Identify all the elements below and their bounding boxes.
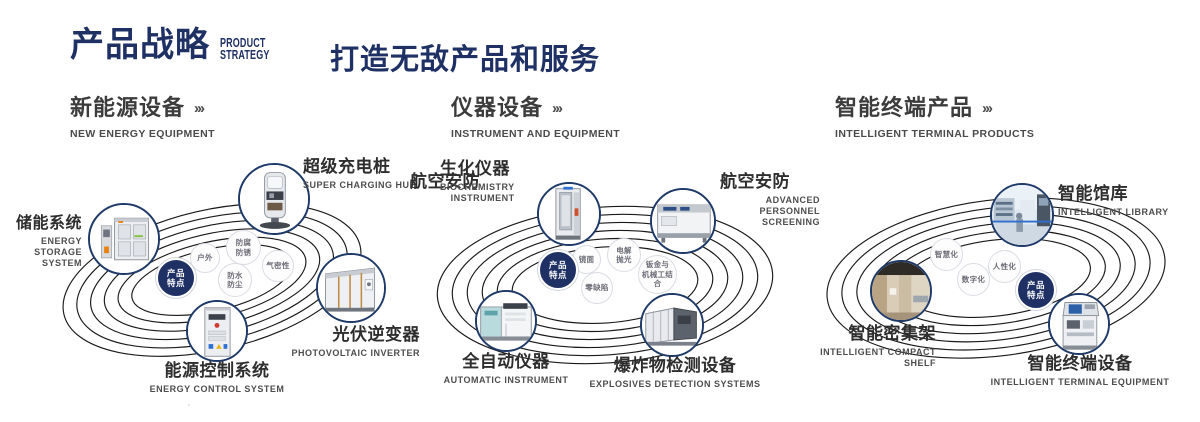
core-badge-product-features: 产品 特点 xyxy=(538,250,578,290)
node-explosives-detection[interactable] xyxy=(640,293,704,357)
node-energy-control-cabinet[interactable] xyxy=(186,300,248,362)
photovoltaic-inverter-icon xyxy=(318,255,384,321)
personnel-screening-icon xyxy=(652,190,714,252)
chevron-right-icon: ››› xyxy=(194,101,203,116)
node-label-cn: 智能终端设备 xyxy=(985,355,1175,374)
cluster-new-energy-equipment: 储能系统 ENERGY STORAGE SYSTEM 超级充电桩 SUPER C… xyxy=(0,150,420,400)
node-energy-storage-cabinet[interactable] xyxy=(88,203,160,275)
feature-bubble-sheetmetal-machining: 钣金与 机械工结合 xyxy=(638,255,677,294)
node-label-cn: 智能馆库 xyxy=(1058,185,1169,204)
section-label: 新能源设备 xyxy=(70,97,185,119)
node-label-energy-control: 能源控制系统 ENERGY CONTROL SYSTEM xyxy=(117,362,317,395)
node-label-en: AUTOMATIC INSTRUMENT xyxy=(416,375,596,386)
node-label-cn: 储能系统 xyxy=(0,215,82,233)
feature-bubble-zero-defect: 零缺陷 xyxy=(581,272,613,304)
biochemistry-instrument-icon xyxy=(539,184,599,244)
node-label-en: INTELLIGENT LIBRARY xyxy=(1058,207,1169,218)
node-label-en: ENERGY CONTROL SYSTEM xyxy=(117,384,317,395)
node-label-intelligent-compact-shelf: 智能密集架 INTELLIGENT COMPACT SHELF xyxy=(790,325,936,369)
intelligent-compact-shelf-icon xyxy=(872,262,930,320)
node-intelligent-terminal-kiosk[interactable] xyxy=(1048,293,1110,355)
automatic-instrument-icon xyxy=(477,292,535,350)
cluster-intelligent-terminal-products: 智能馆库 INTELLIGENT LIBRARY 智能密集架 INTELLIGE… xyxy=(800,150,1200,400)
feature-bubble-electropolishing: 电解 抛光 xyxy=(607,238,641,272)
section-head-new-energy: 新能源设备 ››› NEW ENERGY EQUIPMENT xyxy=(70,97,215,140)
intelligent-terminal-kiosk-icon xyxy=(1050,295,1108,353)
super-charging-hub-icon xyxy=(240,165,308,233)
node-label-cn: 光伏逆变器 xyxy=(238,326,420,345)
feature-bubble-smart: 智慧化 xyxy=(930,238,963,271)
node-label-en: INTELLIGENT COMPACT SHELF xyxy=(790,347,936,370)
section-head-en: NEW ENERGY EQUIPMENT xyxy=(70,128,215,140)
section-head-instrument: 仪器设备 ››› INSTRUMENT AND EQUIPMENT xyxy=(451,97,620,140)
feature-bubble-waterproof: 防水 防尘 xyxy=(218,263,252,297)
node-label-en: PHOTOVOLTAIC INVERTER xyxy=(238,348,420,359)
node-label-photovoltaic-inverter: 光伏逆变器 PHOTOVOLTAIC INVERTER xyxy=(238,326,420,359)
node-label-en: EXPLOSIVES DETECTION SYSTEMS xyxy=(575,379,775,390)
cluster-instrument-and-equipment: 航空安防 生化仪器 BIOCHEMISTRY INSTRUMENT xyxy=(400,150,820,400)
node-label-cn: 爆炸物检测设备 xyxy=(575,357,775,376)
section-head-en: INSTRUMENT AND EQUIPMENT xyxy=(451,128,620,140)
section-head-cn: 仪器设备 ››› xyxy=(451,97,620,119)
node-label-intelligent-terminal-kiosk: 智能终端设备 INTELLIGENT TERMINAL EQUIPMENT xyxy=(985,355,1175,388)
node-label-biochemistry-instrument: 生化仪器 BIOCHEMISTRY INSTRUMENT xyxy=(440,160,515,204)
feature-bubble-airtight: 气密性 xyxy=(262,250,294,282)
chevron-right-icon: ››› xyxy=(552,101,561,116)
node-label-energy-storage: 储能系统 ENERGY STORAGE SYSTEM xyxy=(0,215,82,269)
feature-bubble-anticorrosion: 防腐 防锈 xyxy=(226,230,261,265)
page-title-en: PRODUCT STRATEGY xyxy=(220,37,269,62)
section-label: 智能终端产品 xyxy=(835,97,973,119)
section-head-cn: 智能终端产品 ››› xyxy=(835,97,1034,119)
section-label: 仪器设备 xyxy=(451,97,543,119)
core-badge-product-features: 产品 特点 xyxy=(156,258,196,298)
page-title-cn: 产品战略 xyxy=(70,28,210,62)
node-intelligent-library[interactable] xyxy=(990,183,1054,247)
chevron-right-icon: ››› xyxy=(982,101,991,116)
node-label-en: INTELLIGENT TERMINAL EQUIPMENT xyxy=(985,377,1175,388)
page-title: 产品战略 PRODUCT STRATEGY xyxy=(70,28,289,62)
energy-storage-cabinet-icon xyxy=(90,205,158,273)
node-label-automatic-instrument: 全自动仪器 AUTOMATIC INSTRUMENT xyxy=(416,353,596,386)
node-label-en: ENERGY STORAGE SYSTEM xyxy=(0,236,82,270)
node-label-en: BIOCHEMISTRY INSTRUMENT xyxy=(440,182,515,205)
feature-bubble-outdoor: 户外 xyxy=(190,243,220,273)
product-strategy-infographic: 产品战略 PRODUCT STRATEGY 打造无敌产品和服务 新能源设备 ››… xyxy=(0,0,1200,422)
energy-control-cabinet-icon xyxy=(188,302,246,360)
node-label-cn: 全自动仪器 xyxy=(416,353,596,372)
core-badge-product-features: 产品 特点 xyxy=(1016,270,1056,310)
node-biochemistry-instrument[interactable] xyxy=(537,182,601,246)
node-label-cn: 智能密集架 xyxy=(790,325,936,344)
node-super-charging-hub[interactable] xyxy=(238,163,310,235)
node-personnel-screening[interactable] xyxy=(650,188,716,254)
node-label-cn: 能源控制系统 xyxy=(117,362,317,381)
spacer xyxy=(188,404,190,406)
node-photovoltaic-inverter[interactable] xyxy=(316,253,386,323)
node-intelligent-compact-shelf[interactable] xyxy=(870,260,932,322)
feature-bubble-humanized: 人性化 xyxy=(988,250,1021,283)
node-automatic-instrument[interactable] xyxy=(475,290,537,352)
page-subtitle: 打造无敌产品和服务 xyxy=(330,36,600,78)
section-head-intelligent: 智能终端产品 ››› INTELLIGENT TERMINAL PRODUCTS xyxy=(835,97,1034,140)
node-label-cn: 生化仪器 xyxy=(440,160,515,179)
feature-bubble-digital: 数字化 xyxy=(957,263,990,296)
node-label-explosives-detection: 爆炸物检测设备 EXPLOSIVES DETECTION SYSTEMS xyxy=(575,357,775,390)
explosives-detection-icon xyxy=(642,295,702,355)
section-head-cn: 新能源设备 ››› xyxy=(70,97,215,119)
node-label-intelligent-library: 智能馆库 INTELLIGENT LIBRARY xyxy=(1058,185,1169,218)
intelligent-library-icon xyxy=(992,185,1052,245)
section-head-en: INTELLIGENT TERMINAL PRODUCTS xyxy=(835,128,1034,140)
